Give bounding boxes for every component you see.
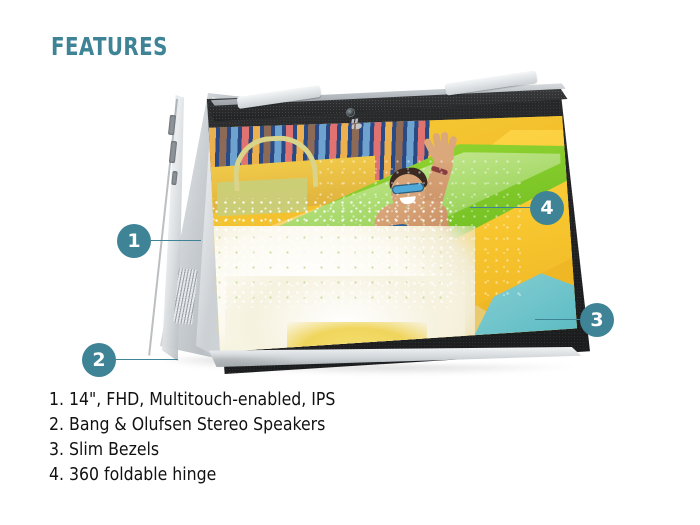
callout-badge-2[interactable]: 2 <box>82 343 116 377</box>
laptop-display <box>195 89 590 379</box>
callout-line-4 <box>470 207 530 208</box>
product-image: 1 2 3 4 <box>0 75 700 375</box>
features-page: FEATURES <box>0 0 700 525</box>
list-item: 2. Bang & Olufsen Stereo Speakers <box>49 413 649 438</box>
list-item: 3. Slim Bezels <box>49 438 649 463</box>
display-screen <box>205 116 577 352</box>
list-item: 1. 14", FHD, Multitouch-enabled, IPS <box>49 388 649 413</box>
callout-badge-4[interactable]: 4 <box>530 191 564 225</box>
callout-line-2 <box>116 359 178 360</box>
base-shadow <box>158 357 298 369</box>
page-title: FEATURES <box>51 34 168 59</box>
features-list: 1. 14", FHD, Multitouch-enabled, IPS 2. … <box>49 388 649 488</box>
list-item: 4. 360 foldable hinge <box>49 463 649 488</box>
callout-line-3 <box>535 319 580 320</box>
callout-badge-1[interactable]: 1 <box>117 224 151 258</box>
callout-line-1 <box>151 240 201 241</box>
callout-badge-3[interactable]: 3 <box>580 303 614 337</box>
screen-photo <box>205 116 577 352</box>
